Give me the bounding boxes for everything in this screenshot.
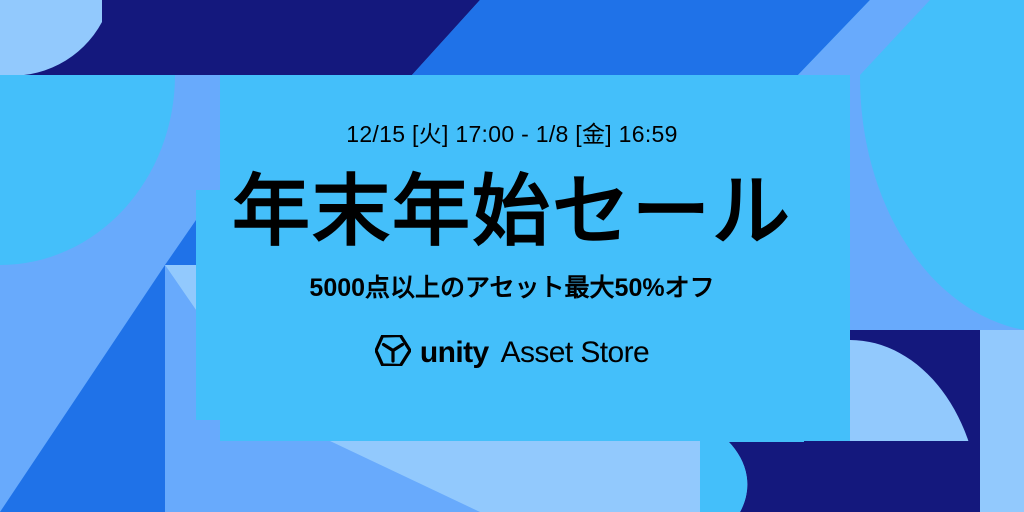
sale-headline: 年末年始セール: [232, 172, 792, 250]
bg-right-cyan-strip: [804, 75, 850, 460]
promotional-banner: 12/15 [火] 17:00 - 1/8 [金] 16:59 年末年始セール …: [0, 0, 1024, 512]
sale-date-range: 12/15 [火] 17:00 - 1/8 [金] 16:59: [346, 123, 678, 146]
bg-top-royal-parallelogram: [412, 0, 870, 75]
bg-left-cyan-strip: [196, 190, 220, 420]
bg-bottom-right-pale: [980, 441, 1024, 512]
unity-cube-icon: [375, 335, 411, 371]
bg-top-right-cyan: [930, 0, 1024, 75]
asset-store-text: Asset Store: [501, 338, 649, 368]
sale-subtitle: 5000点以上のアセット最大50%オフ: [309, 276, 714, 301]
unity-asset-store-logo: unity Asset Store: [375, 335, 649, 371]
bg-bottom-navy-curve: [728, 441, 980, 512]
unity-brand-text: unity: [420, 338, 489, 368]
content-panel: 12/15 [火] 17:00 - 1/8 [金] 16:59 年末年始セール …: [220, 75, 804, 441]
bg-top-navy-run: [102, 0, 412, 75]
